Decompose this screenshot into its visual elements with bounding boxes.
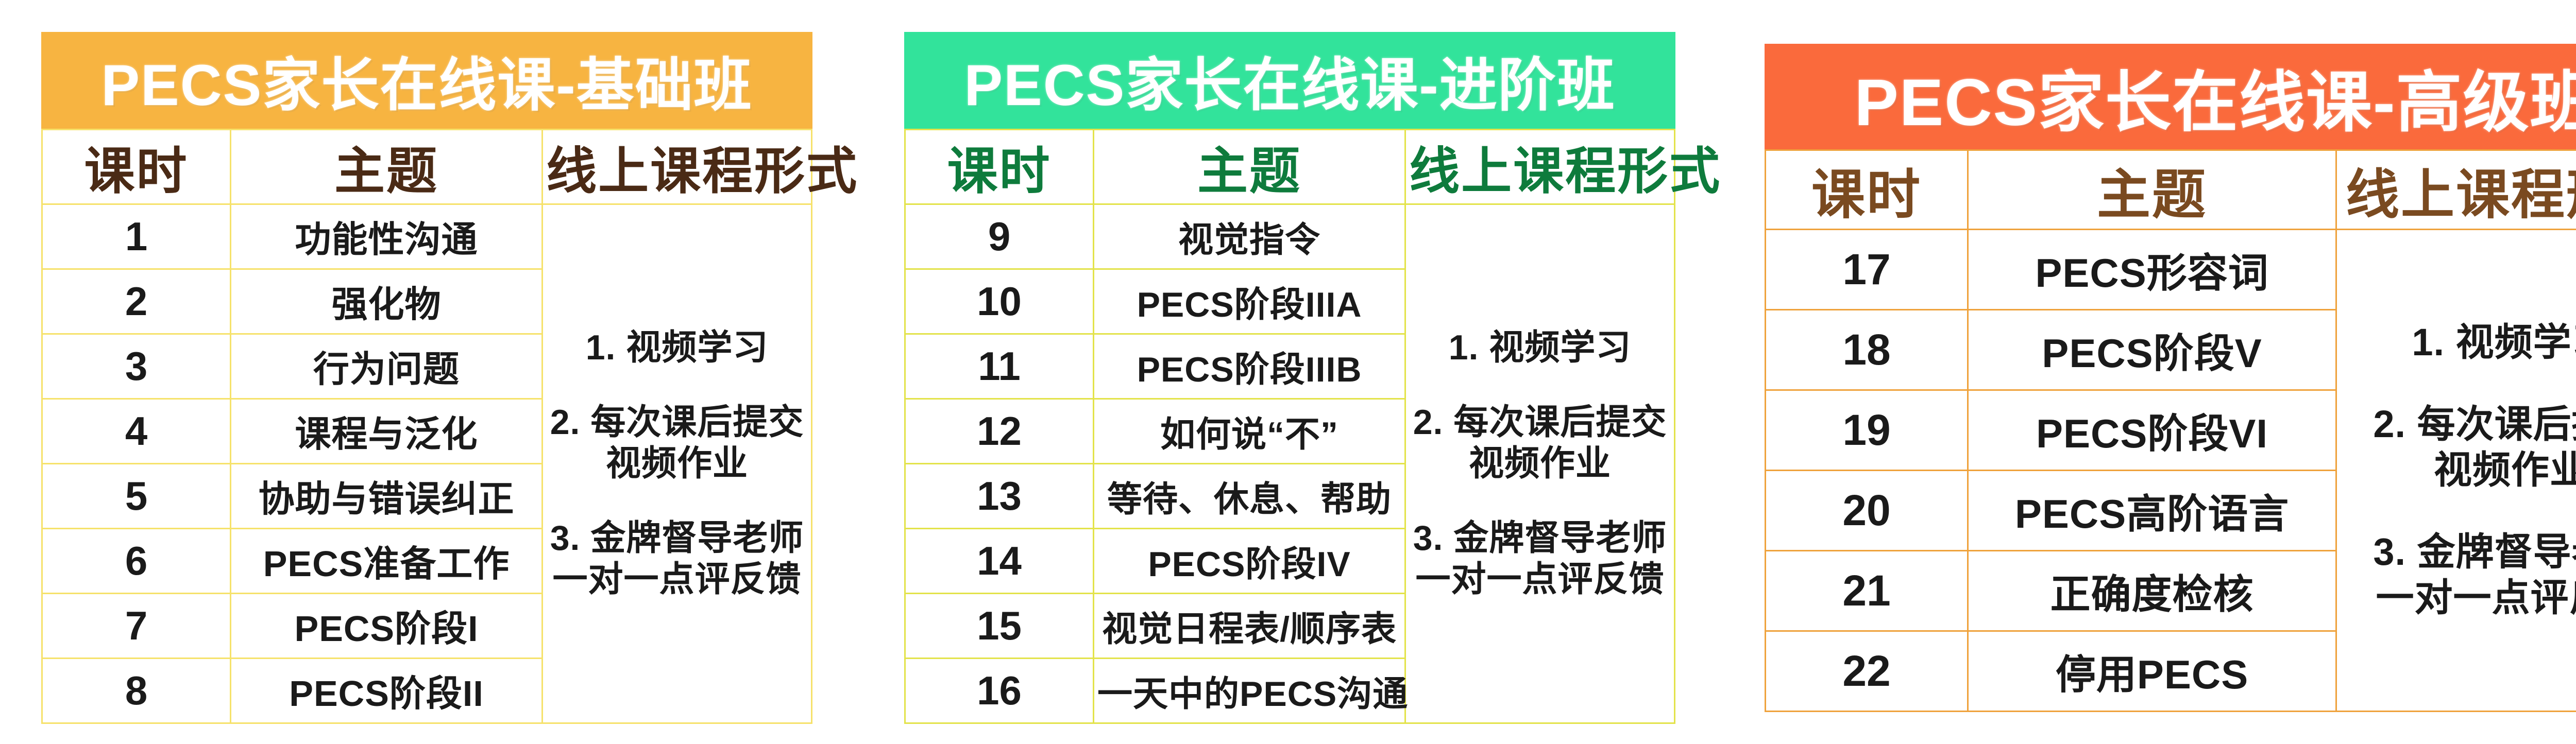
format-spacer [546, 369, 808, 402]
lesson-topic: PECS阶段V [1968, 310, 2336, 390]
format-spacer [2340, 366, 2576, 402]
lesson-topic: 强化物 [231, 269, 543, 334]
lesson-topic: PECS准备工作 [231, 529, 543, 594]
course-table-advanced: PECS家长在线课-进阶班 课时 主题 线上课程形式 9 视觉指令 1. 视频学… [904, 32, 1675, 724]
lesson-number: 8 [42, 659, 231, 723]
lesson-topic: 如何说“不” [1094, 399, 1405, 464]
lesson-number: 18 [1766, 310, 1968, 390]
column-header-lesson: 课时 [42, 130, 231, 204]
lesson-topic: PECS阶段IV [1094, 529, 1405, 594]
format-line-3: 3. 金牌督导老师 [2340, 529, 2576, 575]
lesson-topic: 视觉日程表/顺序表 [1094, 594, 1405, 659]
lesson-number: 6 [42, 529, 231, 594]
lesson-number: 1 [42, 204, 231, 269]
format-line-1: 1. 视频学习 [546, 327, 808, 368]
format-line-3b: 一对一点评反馈 [1409, 559, 1671, 600]
format-line-2b: 视频作业 [1409, 443, 1671, 484]
table-row: 1 功能性沟通 1. 视频学习 2. 每次课后提交 视频作业 3. 金牌督导老师… [42, 204, 812, 269]
format-line-3b: 一对一点评反馈 [2340, 575, 2576, 621]
lesson-number: 16 [905, 659, 1094, 723]
lesson-number: 11 [905, 334, 1094, 399]
lesson-topic: 等待、休息、帮助 [1094, 464, 1405, 529]
lesson-number: 17 [1766, 230, 1968, 310]
schedule-table-advanced: 课时 主题 线上课程形式 9 视觉指令 1. 视频学习 2. 每次课后提交 视频… [904, 129, 1675, 724]
lesson-topic: PECS阶段VI [1968, 390, 2336, 471]
lesson-number: 2 [42, 269, 231, 334]
table-header-row: 课时 主题 线上课程形式 [42, 130, 812, 204]
format-line-2: 2. 每次课后提交 [2340, 402, 2576, 447]
table-header-row: 课时 主题 线上课程形式 [905, 130, 1675, 204]
format-spacer [1409, 485, 1671, 518]
online-format-cell: 1. 视频学习 2. 每次课后提交 视频作业 3. 金牌督导老师 一对一点评反馈 [2336, 230, 2576, 712]
lesson-number: 7 [42, 594, 231, 659]
lesson-topic: 协助与错误纠正 [231, 464, 543, 529]
lesson-number: 21 [1766, 551, 1968, 631]
column-header-lesson: 课时 [905, 130, 1094, 204]
format-line-2b: 视频作业 [546, 443, 808, 484]
lesson-number: 22 [1766, 631, 1968, 712]
online-format-cell: 1. 视频学习 2. 每次课后提交 视频作业 3. 金牌督导老师 一对一点评反馈 [1405, 204, 1675, 723]
column-header-format: 线上课程形式 [543, 130, 812, 204]
lesson-topic: PECS形容词 [1968, 230, 2336, 310]
lesson-number: 4 [42, 399, 231, 464]
column-header-topic: 主题 [1968, 150, 2336, 230]
format-line-1: 1. 视频学习 [1409, 327, 1671, 368]
lesson-number: 3 [42, 334, 231, 399]
course-table-basic: PECS家长在线课-基础班 课时 主题 线上课程形式 1 功能性沟通 1. 视频… [41, 32, 812, 724]
online-format-cell: 1. 视频学习 2. 每次课后提交 视频作业 3. 金牌督导老师 一对一点评反馈 [543, 204, 812, 723]
lesson-number: 5 [42, 464, 231, 529]
lesson-number: 14 [905, 529, 1094, 594]
lesson-topic: 视觉指令 [1094, 204, 1405, 269]
column-header-topic: 主题 [1094, 130, 1405, 204]
lesson-number: 20 [1766, 471, 1968, 551]
format-spacer [2340, 493, 2576, 529]
lesson-topic: 课程与泛化 [231, 399, 543, 464]
lesson-topic: 一天中的PECS沟通 [1094, 659, 1405, 723]
course-title-senior: PECS家长在线课-高级班 [1765, 44, 2576, 149]
lesson-topic: 正确度检核 [1968, 551, 2336, 631]
lesson-number: 15 [905, 594, 1094, 659]
lesson-topic: PECS阶段IIIB [1094, 334, 1405, 399]
format-line-1: 1. 视频学习 [2340, 320, 2576, 366]
lesson-topic: 停用PECS [1968, 631, 2336, 712]
lesson-number: 12 [905, 399, 1094, 464]
lesson-topic: PECS高阶语言 [1968, 471, 2336, 551]
lesson-topic: PECS阶段II [231, 659, 543, 723]
lesson-topic: 行为问题 [231, 334, 543, 399]
lesson-number: 19 [1766, 390, 1968, 471]
table-row: 17 PECS形容词 1. 视频学习 2. 每次课后提交 视频作业 3. 金牌督… [1766, 230, 2576, 310]
format-line-3: 3. 金牌督导老师 [1409, 517, 1671, 559]
lesson-number: 10 [905, 269, 1094, 334]
lesson-topic: PECS阶段I [231, 594, 543, 659]
lesson-number: 9 [905, 204, 1094, 269]
format-spacer [1409, 369, 1671, 402]
table-row: 9 视觉指令 1. 视频学习 2. 每次课后提交 视频作业 3. 金牌督导老师 … [905, 204, 1675, 269]
lesson-topic: PECS阶段IIIA [1094, 269, 1405, 334]
course-title-advanced: PECS家长在线课-进阶班 [904, 32, 1675, 129]
course-title-basic: PECS家长在线课-基础班 [41, 32, 812, 129]
format-line-2: 2. 每次课后提交 [1409, 402, 1671, 443]
format-spacer [546, 485, 808, 518]
column-header-format: 线上课程形式 [2336, 150, 2576, 230]
format-line-3: 3. 金牌督导老师 [546, 517, 808, 559]
lesson-number: 13 [905, 464, 1094, 529]
schedule-table-basic: 课时 主题 线上课程形式 1 功能性沟通 1. 视频学习 2. 每次课后提交 视… [41, 129, 812, 724]
format-line-3b: 一对一点评反馈 [546, 559, 808, 600]
column-header-format: 线上课程形式 [1405, 130, 1675, 204]
table-header-row: 课时 主题 线上课程形式 [1766, 150, 2576, 230]
schedule-table-senior: 课时 主题 线上课程形式 17 PECS形容词 1. 视频学习 2. 每次课后提… [1765, 149, 2576, 712]
lesson-topic: 功能性沟通 [231, 204, 543, 269]
format-line-2: 2. 每次课后提交 [546, 402, 808, 443]
course-table-senior: PECS家长在线课-高级班 课时 主题 线上课程形式 17 PECS形容词 1.… [1765, 44, 2576, 712]
format-line-2b: 视频作业 [2340, 447, 2576, 493]
course-plan-board: PECS家长在线课-基础班 课时 主题 线上课程形式 1 功能性沟通 1. 视频… [0, 0, 2576, 744]
column-header-topic: 主题 [231, 130, 543, 204]
column-header-lesson: 课时 [1766, 150, 1968, 230]
